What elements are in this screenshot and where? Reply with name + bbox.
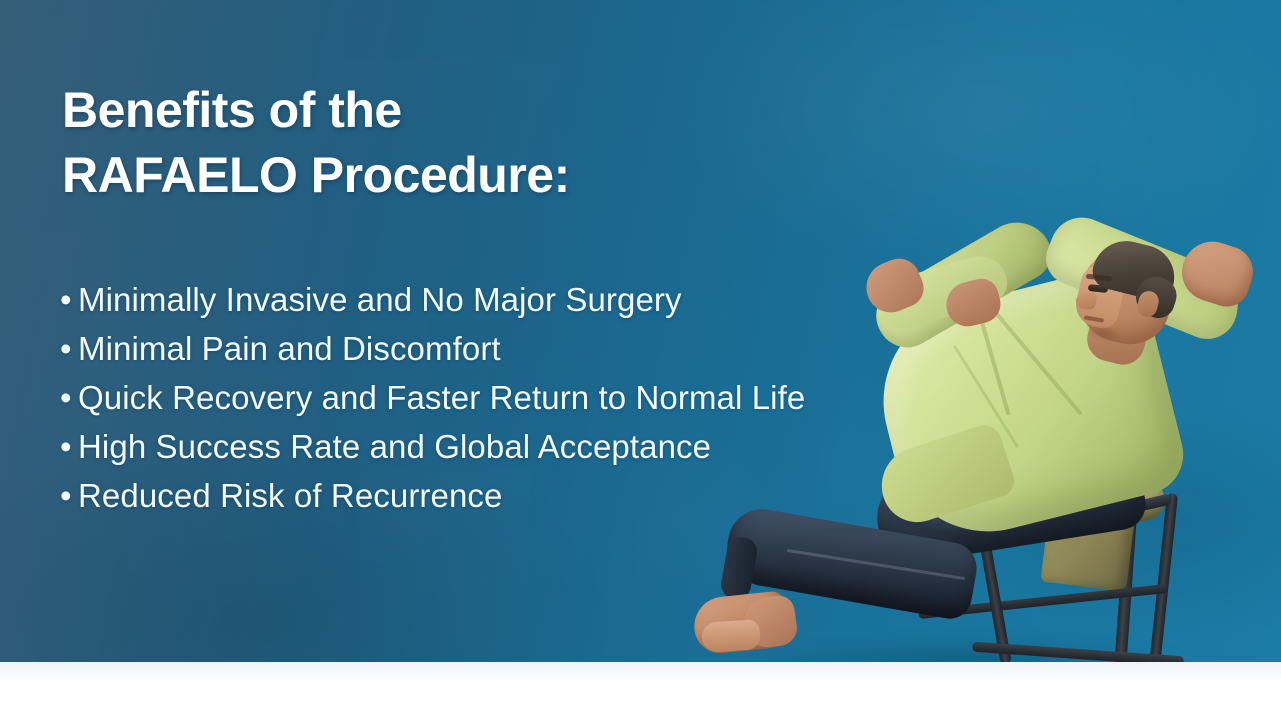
- slide-canvas: Benefits of the RAFAELO Procedure: •Mini…: [0, 0, 1281, 720]
- relaxed-man-photo: [690, 225, 1281, 695]
- benefit-text: Minimal Pain and Discomfort: [78, 330, 501, 367]
- benefit-text: Reduced Risk of Recurrence: [78, 477, 502, 514]
- benefit-text: Minimally Invasive and No Major Surgery: [78, 281, 682, 318]
- foot-toes: [701, 619, 761, 653]
- bullet-marker-icon: •: [60, 422, 78, 471]
- bullet-marker-icon: •: [60, 471, 78, 520]
- bullet-marker-icon: •: [60, 373, 78, 422]
- bullet-marker-icon: •: [60, 324, 78, 373]
- bullet-marker-icon: •: [60, 275, 78, 324]
- benefit-text: High Success Rate and Global Acceptance: [78, 428, 711, 465]
- page-title: Benefits of the RAFAELO Procedure:: [62, 78, 822, 208]
- jeans-cuff: [719, 535, 759, 601]
- strip-sheen: [0, 662, 1281, 682]
